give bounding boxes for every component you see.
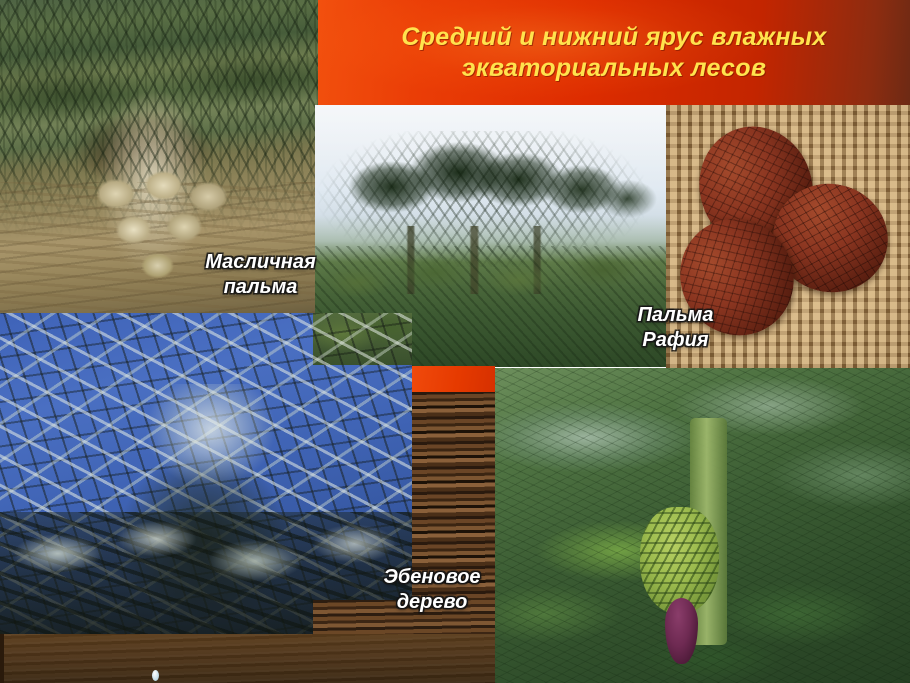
slide-title: Средний и нижний ярус влажных экваториал… [330,22,898,83]
photo-ebony-tree [0,313,412,634]
wood-plank-upper [313,600,495,634]
photo-ebony-wood-texture [412,392,495,634]
presentation-slide: Средний и нижний ярус влажных экваториал… [0,0,910,683]
plank-highlight-dot [152,670,159,681]
photo-oil-palm [0,0,318,313]
oil-palm-trunk [86,169,235,307]
wood-plank-bottom [0,634,495,683]
orange-accent-strip [412,366,495,392]
photo-raffia-fruits [666,105,910,368]
photo-banana-plant [495,368,910,683]
title-banner: Средний и нижний ярус влажных экваториал… [318,0,910,105]
